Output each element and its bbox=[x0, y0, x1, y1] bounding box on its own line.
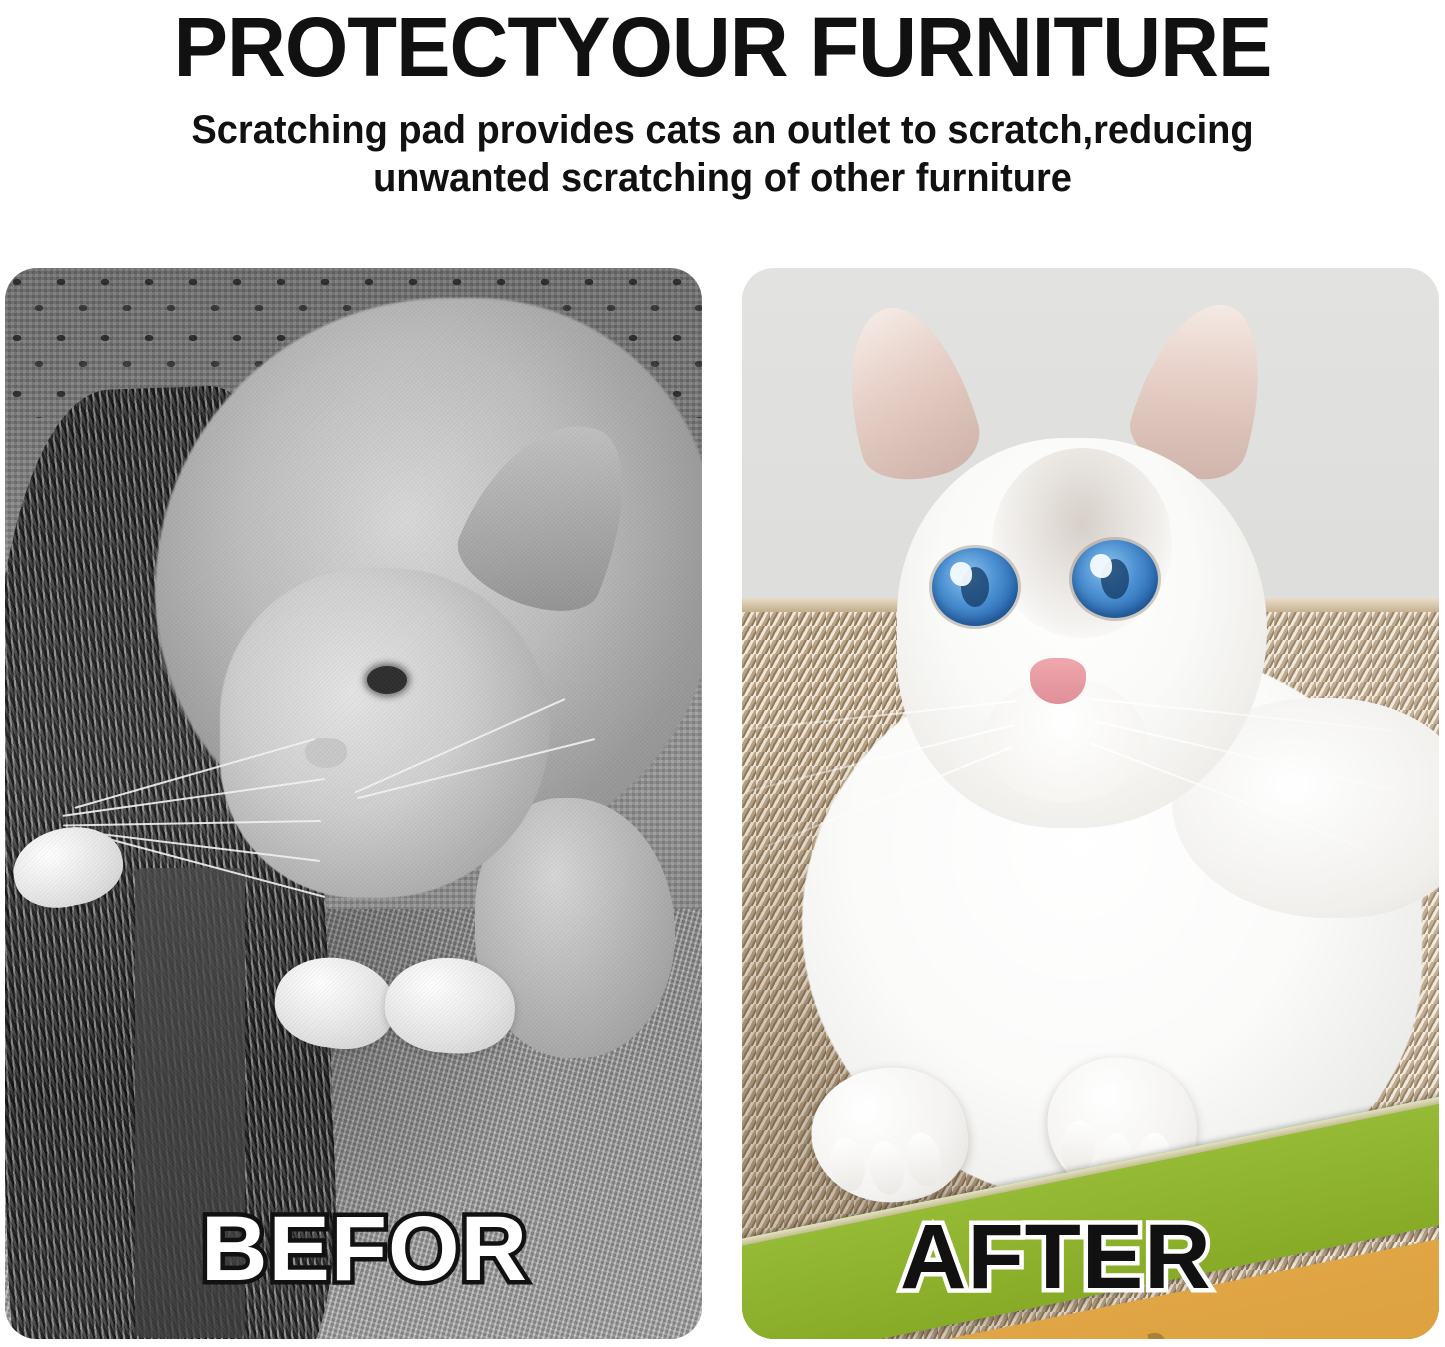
after-label: AFTER bbox=[900, 1211, 1212, 1303]
product-feature-image: PROTECTYOUR FURNITURE Scratching pad pro… bbox=[0, 0, 1445, 1347]
ragdoll-cat-face-mask-marking bbox=[992, 448, 1172, 638]
subtitle-line-1: Scratching pad provides cats an outlet t… bbox=[36, 106, 1409, 154]
ragdoll-cat-eye-glint-left bbox=[950, 562, 972, 586]
grey-cat-eye bbox=[367, 666, 407, 694]
grey-cat-nose bbox=[305, 738, 347, 768]
header: PROTECTYOUR FURNITURE Scratching pad pro… bbox=[0, 0, 1445, 250]
paw-toe bbox=[865, 1138, 908, 1197]
brand-logo-reflection: Jopoy bbox=[1012, 1327, 1189, 1339]
page-title: PROTECTYOUR FURNITURE bbox=[22, 0, 1424, 90]
before-panel: BEFOR bbox=[5, 268, 702, 1339]
paw-toe bbox=[902, 1130, 945, 1189]
subtitle-line-2: unwanted scratching of other furniture bbox=[36, 154, 1409, 202]
page-subtitle: Scratching pad provides cats an outlet t… bbox=[36, 90, 1409, 202]
before-label: BEFOR bbox=[201, 1203, 528, 1295]
after-panel: Jopoy -Jopoy- AFTER bbox=[742, 268, 1439, 1339]
ragdoll-cat-eye-glint-right bbox=[1090, 554, 1112, 578]
